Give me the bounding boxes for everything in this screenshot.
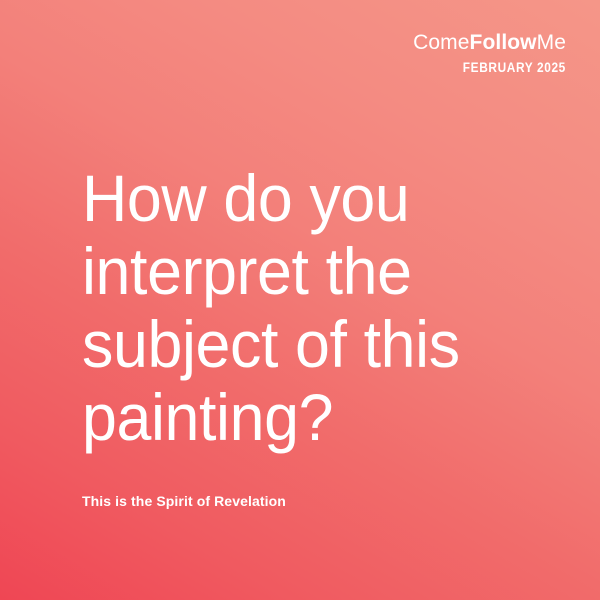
brand-title-part-me: Me (537, 31, 566, 54)
headline-line: subject of this (82, 308, 500, 381)
headline-line: How do you (82, 162, 500, 235)
brand-date: FEBRUARY 2025 (431, 61, 566, 75)
brand-title: ComeFollowMe (413, 32, 566, 53)
headline-line: interpret the (82, 235, 500, 308)
come-follow-me-card: ComeFollowMe FEBRUARY 2025 How do you in… (0, 0, 600, 600)
headline: How do you interpret the subject of this… (82, 162, 500, 454)
brand-block: ComeFollowMe FEBRUARY 2025 (413, 32, 566, 75)
subtitle: This is the Spirit of Revelation (82, 492, 286, 510)
brand-title-part-follow: Follow (470, 31, 537, 54)
brand-title-part-come: Come (413, 31, 469, 54)
headline-line: painting? (82, 381, 500, 454)
